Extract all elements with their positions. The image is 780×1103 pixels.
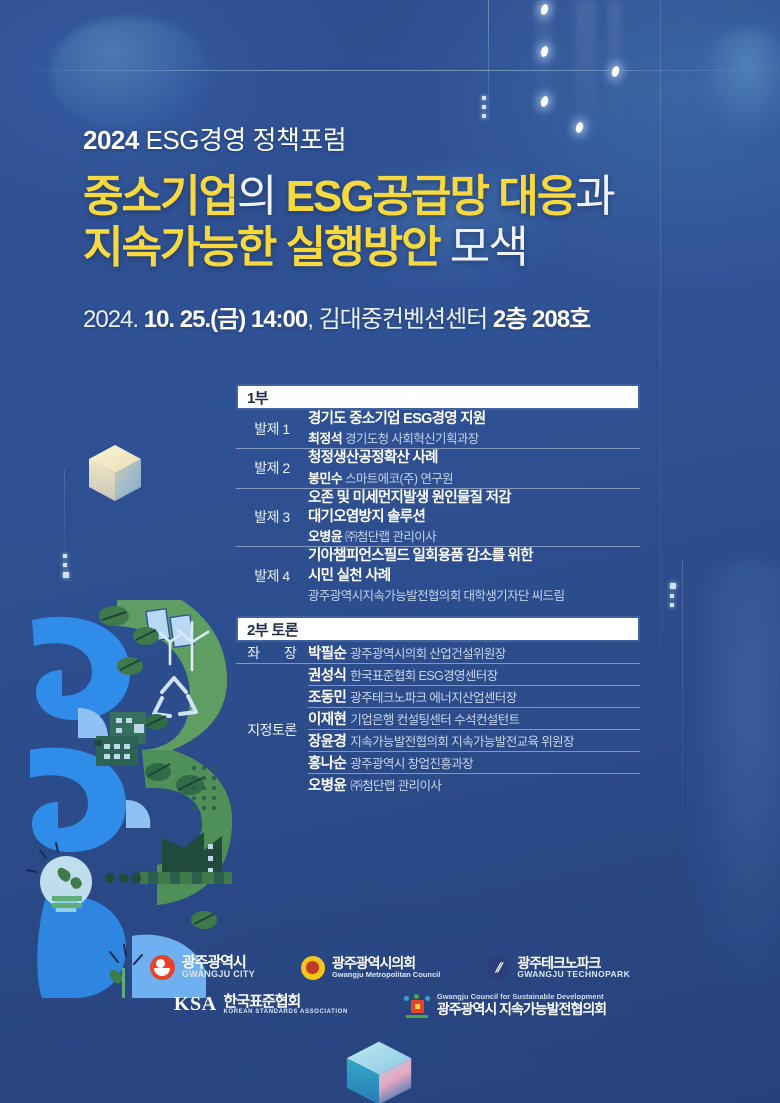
bg-spark-1 <box>539 3 549 16</box>
gcsd-emblem-icon <box>404 994 430 1016</box>
chair-label: 좌 장 <box>236 642 308 663</box>
logo-gwangju-city: 광주광역시 GWANGJU CITY <box>150 955 255 980</box>
program-section: 1부 발제 1 경기도 중소기업 ESG경영 지원 최정석 경기도청 사회혁신기… <box>236 384 640 795</box>
session-title-1: 경기도 중소기업 ESG경영 지원 <box>308 410 640 429</box>
logo-gcsd: Gwangju Council for Sustainable Developm… <box>404 993 606 1016</box>
date-day-time: 10. 25.(금) 14:00 <box>144 306 308 333</box>
logo-en-label: Gwangju Metropolitan Council <box>332 971 440 979</box>
bg-vline-3 <box>682 560 683 860</box>
bg-band-3 <box>536 0 552 120</box>
speaker-name: 최정석 <box>308 431 342 446</box>
panelist-affiliation: 한국표준협회 ESG경영센터장 <box>350 669 497 683</box>
panelist-entry-3: 이재현기업은행 컨설팅센터 수석컨설턴트 <box>308 708 640 729</box>
chair-entry: 박필순광주광역시의회 산업건설위원장 <box>308 642 640 663</box>
kicker-line: 2024 ESG경영 정책포럼 <box>83 124 723 157</box>
section-header-part1: 1부 <box>236 384 640 410</box>
esg-illustration <box>22 600 252 1000</box>
event-datetime-venue: 2024. 10. 25.(금) 14:00, 김대중컨벤션센터 2층 208호 <box>83 299 723 334</box>
ksa-wordmark-icon: KSA <box>174 993 217 1016</box>
part1-table: 발제 1 경기도 중소기업 ESG경영 지원 최정석 경기도청 사회혁신기획과장… <box>236 410 640 604</box>
table-row: 발제 4 기아챔피언스필드 일회용품 감소를 위한 시민 실천 사례 광주광역시… <box>236 547 640 604</box>
session-speaker-1: 최정석 경기도청 사회혁신기획과장 <box>308 431 640 448</box>
speaker-affiliation: 광주광역시지속가능발전협의회 대학생기자단 씨드림 <box>308 589 564 603</box>
panelist-name: 박필순 <box>308 646 346 662</box>
bg-spark-3 <box>610 65 620 78</box>
venue-name: , 김대중컨벤션센터 <box>307 306 493 333</box>
session-label-3: 발제 3 <box>236 489 308 547</box>
date-year: 2024. <box>83 306 144 333</box>
table-row: 좌 장 박필순광주광역시의회 산업건설위원장 <box>236 642 640 663</box>
cube-icon-glass <box>336 1040 422 1103</box>
bg-dot-column-topleft <box>482 96 486 123</box>
session-content-2: 청정생산공정확산 사례 봉민수 스마트에코(주) 연구원 <box>308 449 640 487</box>
bg-dot <box>482 96 486 100</box>
kicker-rest: ESG경영 정책포럼 <box>139 125 346 155</box>
bg-dot <box>670 583 676 589</box>
bg-blob-left <box>50 18 210 128</box>
title-line-1: 중소기업의 ESG공급망 대응과 <box>83 171 723 222</box>
bg-dot <box>670 594 674 598</box>
logo-gwangju-technopark: ⫽ 광주테크노파크 GWANGJU TECHNOPARK <box>486 956 630 980</box>
logo-row-1: 광주광역시 GWANGJU CITY 광주광역시의회 Gwangju Metro… <box>0 955 780 980</box>
logo-ko-label: 한국표준협회 <box>224 994 348 1009</box>
section-label-part2: 2부 토론 <box>247 619 298 640</box>
title-plain-2: 과 <box>575 172 613 221</box>
title-highlight-2: ESG공급망 대응 <box>286 172 576 221</box>
bg-vline-4 <box>64 470 65 570</box>
title-highlight-3: 지속가능한 실행방안 <box>83 223 440 272</box>
speaker-affiliation: 경기도청 사회혁신기획과장 <box>345 432 479 446</box>
session-label-2: 발제 2 <box>236 449 308 487</box>
bg-dot-column-left <box>63 554 69 583</box>
panelist-entry-1: 권성식한국표준협회 ESG경영센터장 <box>308 664 640 685</box>
table-row: 발제 3 오존 및 미세먼지발생 원인물질 저감 대기오염방지 솔루션 오병윤 … <box>236 489 640 547</box>
panelist-name: 홍나순 <box>308 756 346 772</box>
session-title-3-line1: 오존 및 미세먼지발생 원인물질 저감 <box>308 489 640 508</box>
section-header-part2: 2부 토론 <box>236 616 640 642</box>
session-speaker-2: 봉민수 스마트에코(주) 연구원 <box>308 471 640 488</box>
bg-hline <box>0 70 780 71</box>
session-label-4: 발제 4 <box>236 547 308 604</box>
gwangju-council-emblem-icon <box>301 956 325 980</box>
poster-root: 2024 ESG경영 정책포럼 중소기업의 ESG공급망 대응과 지속가능한 실… <box>0 0 780 1103</box>
panelist-affiliation: 광주광역시 창업진흥과장 <box>350 757 473 771</box>
panelist-entry-2: 조동민광주테크노파크 에너지산업센터장 <box>308 686 640 707</box>
bg-glow-pill-right <box>700 28 780 136</box>
session-speaker-3: 오병윤 ㈜첨단랩 관리이사 <box>308 529 640 546</box>
logo-en-label: KOREAN STANDARDS ASSOCIATION <box>224 1009 348 1015</box>
logo-row-2: KSA 한국표준협회 KOREAN STANDARDS ASSOCIATION … <box>0 993 780 1016</box>
logo-footer: 광주광역시 GWANGJU CITY 광주광역시의회 Gwangju Metro… <box>0 955 780 1016</box>
bg-band-2 <box>608 0 622 130</box>
session-title-4-line2: 시민 실천 사례 <box>308 567 640 586</box>
bg-spark-2 <box>539 45 549 58</box>
logo-ksa: KSA 한국표준협회 KOREAN STANDARDS ASSOCIATION <box>174 993 348 1016</box>
bg-vline-1 <box>488 0 489 122</box>
table-row: 발제 2 청정생산공정확산 사례 봉민수 스마트에코(주) 연구원 <box>236 449 640 487</box>
speaker-name: 오병윤 <box>308 529 342 544</box>
table-row: 발제 1 경기도 중소기업 ESG경영 지원 최정석 경기도청 사회혁신기획과장 <box>236 410 640 448</box>
logo-ko-label: 광주테크노파크 <box>517 956 630 970</box>
poster-header: 2024 ESG경영 정책포럼 중소기업의 ESG공급망 대응과 지속가능한 실… <box>83 124 723 334</box>
venue-room: 2층 208호 <box>493 306 590 333</box>
title-plain-1: 의 <box>237 172 275 221</box>
table-row: 지정토론 권성식한국표준협회 ESG경영센터장 <box>236 664 640 685</box>
title-line-2: 지속가능한 실행방안 모색 <box>83 222 723 273</box>
panelist-name: 권성식 <box>308 668 346 684</box>
part2-table: 좌 장 박필순광주광역시의회 산업건설위원장 지정토론 권성식한국표준협회 ES… <box>236 642 640 795</box>
page-title: 중소기업의 ESG공급망 대응과 지속가능한 실행방안 모색 <box>83 171 723 273</box>
panelist-name: 장윤경 <box>308 734 346 750</box>
logo-ko-label: 광주광역시의회 <box>332 956 440 970</box>
logo-gwangju-council: 광주광역시의회 Gwangju Metropolitan Council <box>301 956 440 980</box>
session-title-4-line1: 기아챔피언스필드 일회용품 감소를 위한 <box>308 547 640 566</box>
session-content-3: 오존 및 미세먼지발생 원인물질 저감 대기오염방지 솔루션 오병윤 ㈜첨단랩 … <box>308 489 640 547</box>
gwangju-technopark-emblem-icon: ⫽ <box>486 956 510 980</box>
bg-dot-column-right <box>670 583 676 612</box>
panelist-name: 오병윤 <box>308 778 346 794</box>
title-plain-3: 모색 <box>440 223 527 272</box>
speaker-affiliation: 스마트에코(주) 연구원 <box>345 472 453 486</box>
panelist-affiliation: 광주테크노파크 에너지산업센터장 <box>350 691 516 705</box>
session-label-1: 발제 1 <box>236 410 308 448</box>
speaker-affiliation: ㈜첨단랩 관리이사 <box>345 530 436 544</box>
panelist-affiliation: 광주광역시의회 산업건설위원장 <box>350 647 505 661</box>
panelist-name: 이재현 <box>308 712 346 728</box>
bg-dot <box>63 554 67 558</box>
speaker-name: 봉민수 <box>308 471 342 486</box>
kicker-year: 2024 <box>83 125 139 155</box>
panelist-entry-5: 홍나순광주광역시 창업진흥과장 <box>308 752 640 773</box>
title-highlight-1: 중소기업 <box>83 172 237 221</box>
bg-glow-pill-lower-right <box>690 560 780 980</box>
logo-ko-label: 광주광역시 지속가능발전협의회 <box>437 1002 606 1016</box>
logo-en-label: GWANGJU CITY <box>182 970 255 979</box>
panelist-affiliation: ㈜첨단랩 관리이사 <box>350 779 441 793</box>
bg-dot <box>63 572 69 578</box>
panelist-entry-4: 장윤경지속가능발전협의회 지속가능발전교육 위원장 <box>308 730 640 751</box>
logo-ko-label: 광주광역시 <box>182 955 255 970</box>
cube-icon-gold <box>86 442 144 504</box>
section-label-part1: 1부 <box>247 387 268 408</box>
logo-en-label: GWANGJU TECHNOPARK <box>517 970 630 979</box>
gwangju-city-emblem-icon <box>150 955 175 980</box>
bg-dot <box>482 105 486 109</box>
panelist-affiliation: 기업은행 컨설팅센터 수석컨설턴트 <box>350 713 519 727</box>
session-content-1: 경기도 중소기업 ESG경영 지원 최정석 경기도청 사회혁신기획과장 <box>308 410 640 448</box>
bg-dot <box>63 563 67 567</box>
session-title-2: 청정생산공정확산 사례 <box>308 449 640 468</box>
panel-label: 지정토론 <box>236 664 308 795</box>
bg-spark-4 <box>539 95 549 108</box>
logo-en-label: Gwangju Council for Sustainable Developm… <box>437 993 606 1001</box>
panelist-affiliation: 지속가능발전협의회 지속가능발전교육 위원장 <box>350 735 574 749</box>
panelist-entry-6: 오병윤㈜첨단랩 관리이사 <box>308 774 640 795</box>
session-speaker-4: 광주광역시지속가능발전협의회 대학생기자단 씨드림 <box>308 588 640 604</box>
panelist-name: 조동민 <box>308 690 346 706</box>
bg-dot <box>482 114 486 118</box>
session-content-4: 기아챔피언스필드 일회용품 감소를 위한 시민 실천 사례 광주광역시지속가능발… <box>308 547 640 604</box>
session-title-3-line2: 대기오염방지 솔루션 <box>308 508 640 527</box>
bg-dot <box>670 603 674 607</box>
